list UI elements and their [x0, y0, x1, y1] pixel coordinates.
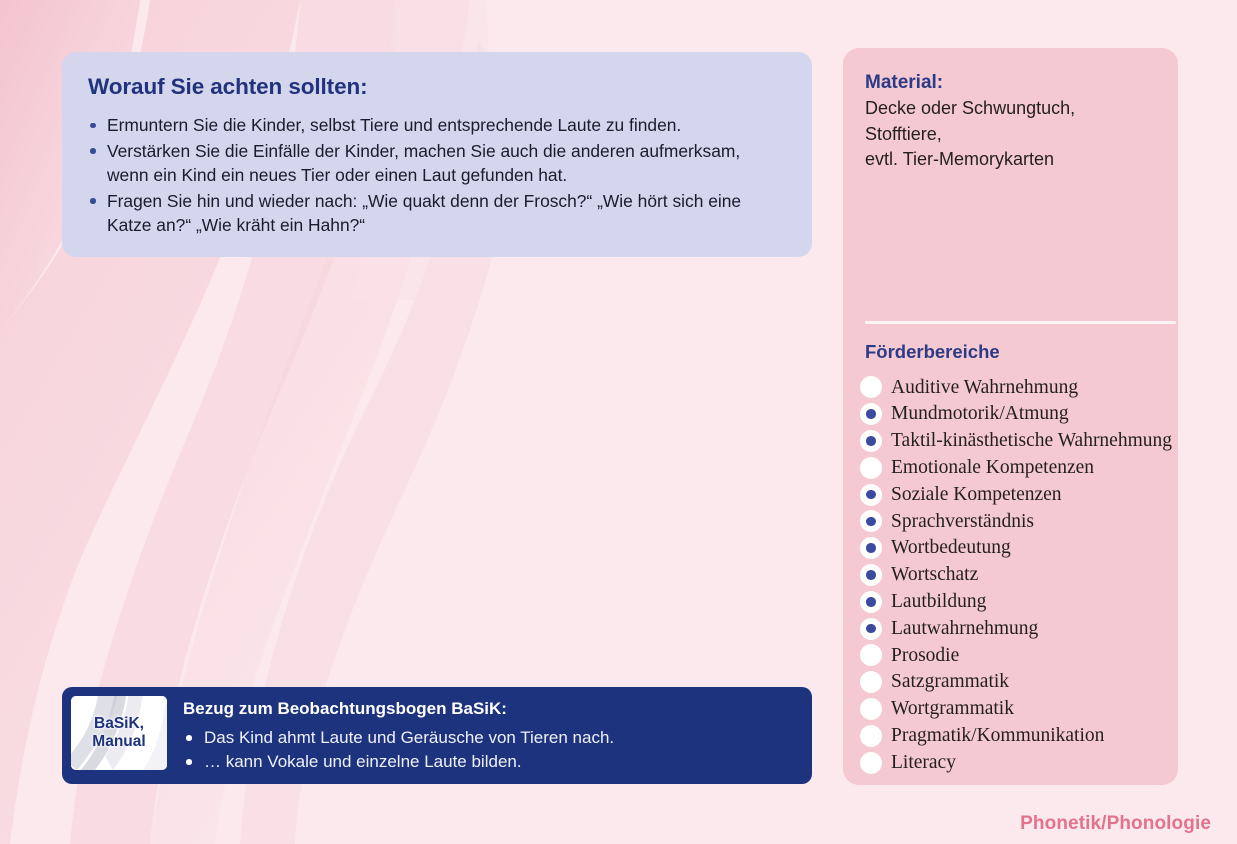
foerderbereich-label: Soziale Kompetenzen [891, 485, 1062, 505]
bullet-icon [90, 148, 96, 154]
radio-unchecked-icon[interactable] [860, 752, 882, 774]
advice-panel: Worauf Sie achten sollten: Ermuntern Sie… [62, 52, 812, 257]
radio-checked-icon[interactable] [860, 618, 882, 640]
worksheet-page: Worauf Sie achten sollten: Ermuntern Sie… [0, 0, 1237, 844]
basik-title: Bezug zum Beobachtungsbogen BaSiK: [183, 698, 812, 720]
bullet-icon [90, 198, 96, 204]
basik-body: Bezug zum Beobachtungsbogen BaSiK: Das K… [167, 696, 812, 774]
radio-checked-icon[interactable] [860, 510, 882, 532]
radio-unchecked-icon[interactable] [860, 725, 882, 747]
foerderbereich-item[interactable]: Sprachverständnis [860, 508, 1170, 535]
radio-checked-icon[interactable] [860, 403, 882, 425]
foerderbereich-label: Pragmatik/Kommunikation [891, 726, 1104, 746]
foerderbereich-item[interactable]: Auditive Wahrnehmung [860, 374, 1170, 401]
foerderbereich-item[interactable]: Taktil-kinästhetische Wahrnehmung [860, 428, 1170, 455]
material-line: Stofftiere, [865, 122, 1156, 148]
basik-logo-text: BaSiK, Manual [92, 715, 145, 751]
advice-list-item: Verstärken Sie die Einfälle der Kinder, … [88, 139, 786, 188]
radio-unchecked-icon[interactable] [860, 671, 882, 693]
advice-item-text: Ermuntern Sie die Kinder, selbst Tiere u… [107, 115, 681, 135]
bullet-icon [186, 759, 192, 765]
material-line: evtl. Tier-Memorykarten [865, 147, 1156, 173]
bullet-icon [186, 735, 192, 741]
bullet-icon [90, 123, 96, 129]
basik-reference-panel: BaSiK, Manual Bezug zum Beobachtungsboge… [62, 687, 812, 784]
foerderbereich-label: Emotionale Kompetenzen [891, 458, 1094, 478]
basik-list-item: Das Kind ahmt Laute und Geräusche von Ti… [183, 726, 812, 750]
radio-checked-icon[interactable] [860, 537, 882, 559]
foerderbereiche-list: Auditive WahrnehmungMundmotorik/AtmungTa… [860, 374, 1170, 776]
foerderbereich-label: Satzgrammatik [891, 672, 1009, 692]
foerderbereich-label: Literacy [891, 753, 956, 773]
advice-title: Worauf Sie achten sollten: [88, 74, 786, 100]
foerderbereich-item[interactable]: Soziale Kompetenzen [860, 481, 1170, 508]
foerderbereich-label: Wortbedeutung [891, 538, 1011, 558]
radio-checked-icon[interactable] [860, 564, 882, 586]
foerderbereich-item[interactable]: Lautbildung [860, 588, 1170, 615]
foerderbereich-label: Lautwahrnehmung [891, 619, 1038, 639]
foerderbereiche-title: Förderbereiche [865, 341, 1000, 363]
advice-list-item: Ermuntern Sie die Kinder, selbst Tiere u… [88, 113, 786, 138]
side-panel: Material: Decke oder Schwungtuch, Stofft… [843, 48, 1178, 785]
foerderbereich-item[interactable]: Pragmatik/Kommunikation [860, 722, 1170, 749]
basik-manual-logo: BaSiK, Manual [71, 696, 167, 770]
basik-list: Das Kind ahmt Laute und Geräusche von Ti… [183, 726, 812, 774]
foerderbereich-label: Taktil-kinästhetische Wahrnehmung [891, 431, 1172, 451]
foerderbereich-item[interactable]: Literacy [860, 749, 1170, 776]
basik-item-text: … kann Vokale und einzelne Laute bilden. [204, 752, 522, 771]
foerderbereich-label: Sprachverständnis [891, 512, 1034, 532]
radio-unchecked-icon[interactable] [860, 376, 882, 398]
advice-item-text: Verstärken Sie die Einfälle der Kinder, … [107, 141, 740, 186]
radio-checked-icon[interactable] [860, 591, 882, 613]
basik-logo-line-2: Manual [92, 733, 145, 751]
foerderbereich-label: Prosodie [891, 646, 959, 666]
foerderbereich-label: Wortgrammatik [891, 699, 1014, 719]
basik-list-item: … kann Vokale und einzelne Laute bilden. [183, 750, 812, 774]
basik-item-text: Das Kind ahmt Laute und Geräusche von Ti… [204, 728, 614, 747]
foerderbereich-label: Wortschatz [891, 565, 978, 585]
foerderbereich-item[interactable]: Mundmotorik/Atmung [860, 401, 1170, 428]
radio-checked-icon[interactable] [860, 484, 882, 506]
section-divider [865, 321, 1176, 324]
material-line: Decke oder Schwungtuch, [865, 96, 1156, 122]
material-title: Material: [865, 70, 1156, 95]
foerderbereich-item[interactable]: Wortbedeutung [860, 535, 1170, 562]
foerderbereich-item[interactable]: Wortgrammatik [860, 696, 1170, 723]
foerderbereich-item[interactable]: Wortschatz [860, 562, 1170, 589]
foerderbereich-label: Auditive Wahrnehmung [891, 378, 1078, 398]
foerderbereich-label: Lautbildung [891, 592, 986, 612]
radio-unchecked-icon[interactable] [860, 644, 882, 666]
foerderbereich-item[interactable]: Emotionale Kompetenzen [860, 454, 1170, 481]
radio-unchecked-icon[interactable] [860, 698, 882, 720]
foerderbereich-item[interactable]: Lautwahrnehmung [860, 615, 1170, 642]
advice-list-item: Fragen Sie hin und wieder nach: „Wie qua… [88, 189, 786, 238]
foerderbereich-item[interactable]: Satzgrammatik [860, 669, 1170, 696]
foerderbereich-label: Mundmotorik/Atmung [891, 404, 1069, 424]
advice-list: Ermuntern Sie die Kinder, selbst Tiere u… [88, 113, 786, 238]
advice-item-text: Fragen Sie hin und wieder nach: „Wie qua… [107, 191, 741, 236]
radio-checked-icon[interactable] [860, 430, 882, 452]
basik-logo-line-1: BaSiK, [92, 715, 145, 733]
radio-unchecked-icon[interactable] [860, 457, 882, 479]
foerderbereich-item[interactable]: Prosodie [860, 642, 1170, 669]
footer-category-label: Phonetik/Phonologie [1020, 813, 1211, 835]
